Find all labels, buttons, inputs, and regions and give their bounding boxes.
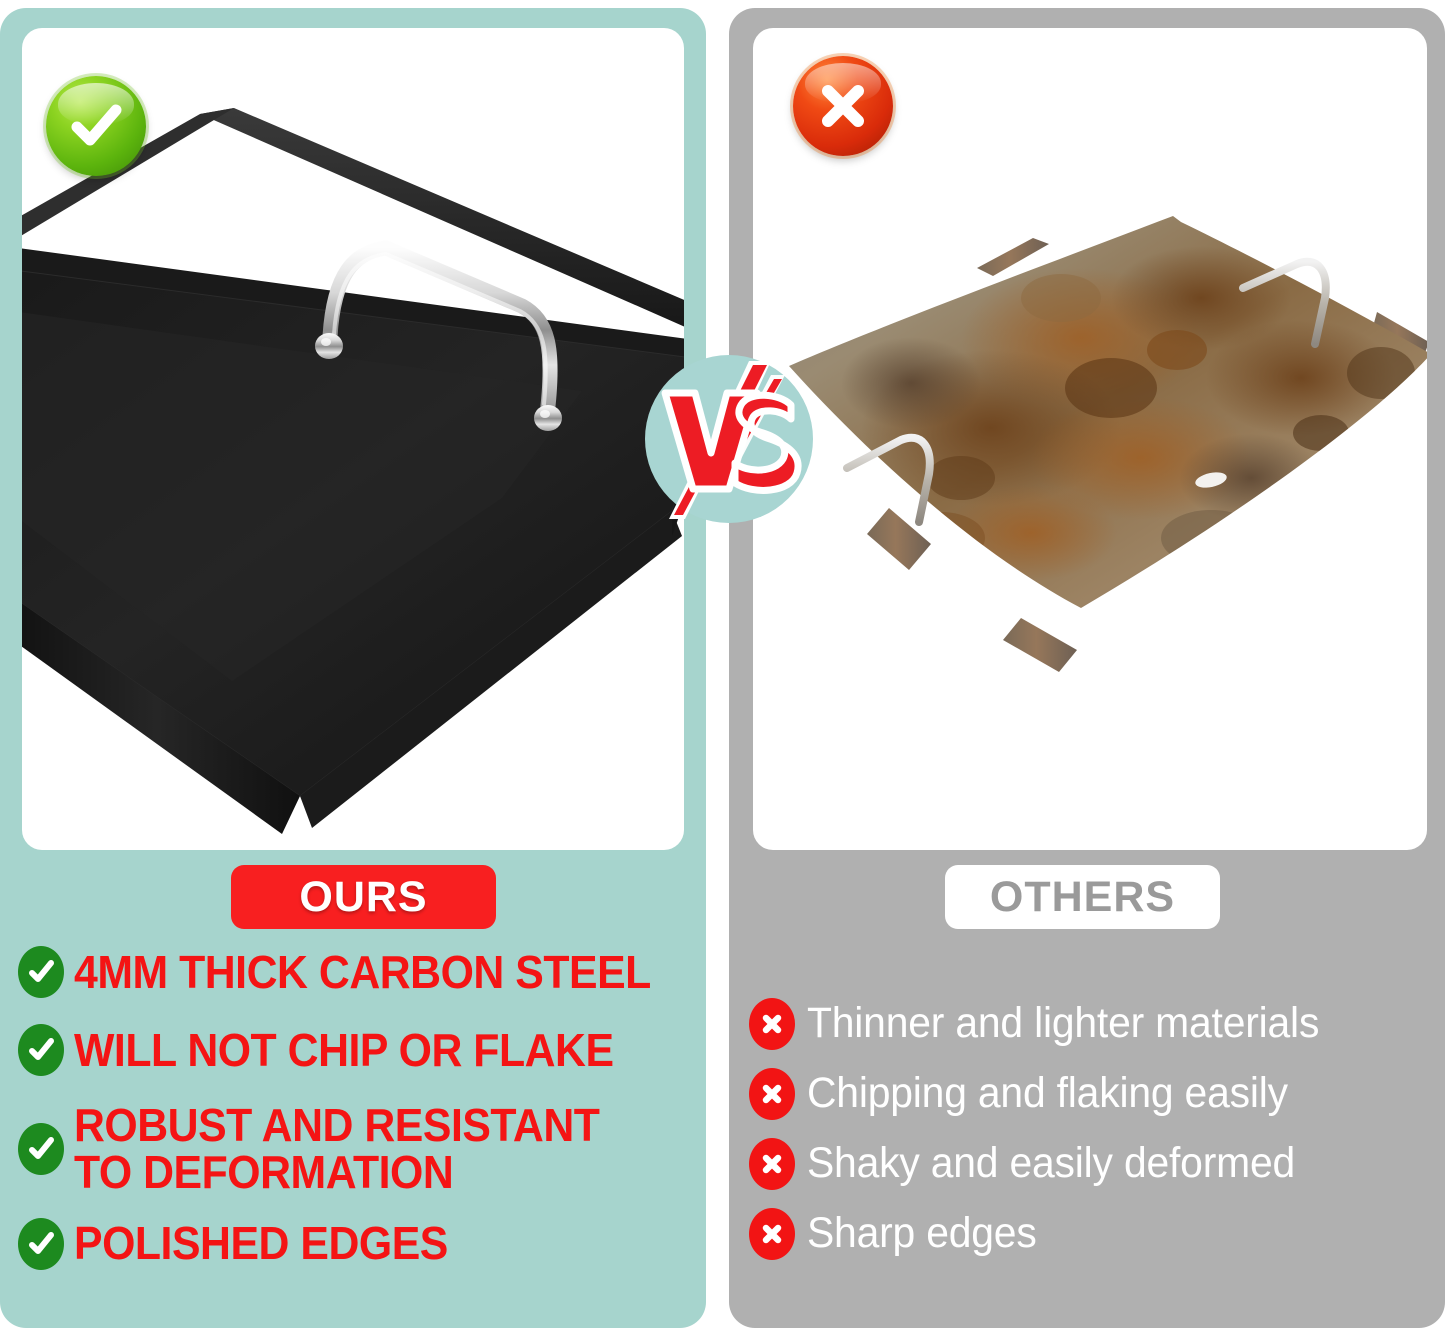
green-check-badge (46, 76, 146, 176)
list-item: POLISHED EDGES (18, 1218, 696, 1270)
ours-title-label: OURS (299, 873, 427, 922)
ours-feature-list: 4MM THICK CARBON STEEL WILL NOT CHIP OR … (18, 946, 696, 1296)
list-item: 4MM THICK CARBON STEEL (18, 946, 696, 998)
ours-feature-label: WILL NOT CHIP OR FLAKE (74, 1027, 614, 1074)
list-item: Thinner and lighter materials (749, 998, 1435, 1050)
others-feature-label: Shaky and easily deformed (807, 1141, 1295, 1186)
others-product-image (781, 178, 1427, 698)
ours-feature-label: 4MM THICK CARBON STEEL (74, 949, 651, 996)
ours-product-image (22, 106, 684, 850)
others-photo-card (753, 28, 1427, 850)
cross-icon (749, 1068, 795, 1120)
check-icon (18, 1218, 64, 1270)
close-icon (814, 77, 872, 135)
vs-label-icon (645, 355, 813, 523)
comparison-infographic: OURS 4MM THICK CARBON STEEL WILL NOT CHI… (0, 0, 1445, 1337)
vs-badge (645, 355, 813, 523)
ours-panel: OURS 4MM THICK CARBON STEEL WILL NOT CHI… (0, 8, 706, 1328)
list-item: ROBUST AND RESISTANT TO DEFORMATION (18, 1102, 696, 1196)
list-item: Sharp edges (749, 1208, 1435, 1260)
check-icon (18, 1123, 64, 1175)
ours-photo-card (22, 28, 684, 850)
others-feature-list: Thinner and lighter materials Chipping a… (749, 998, 1435, 1278)
check-icon (65, 95, 127, 157)
cross-icon (749, 1138, 795, 1190)
red-cross-badge (793, 56, 893, 156)
others-feature-label: Chipping and flaking easily (807, 1071, 1288, 1116)
cross-icon (749, 998, 795, 1050)
cross-icon (749, 1208, 795, 1260)
others-panel: OTHERS Thinner and lighter materials Chi… (729, 8, 1445, 1328)
others-title-label: OTHERS (990, 873, 1175, 922)
others-feature-label: Thinner and lighter materials (807, 1001, 1319, 1046)
ours-feature-label: POLISHED EDGES (74, 1220, 448, 1267)
ours-feature-label: ROBUST AND RESISTANT TO DEFORMATION (74, 1102, 599, 1196)
others-feature-label: Sharp edges (807, 1211, 1037, 1256)
others-title-pill: OTHERS (945, 865, 1220, 929)
check-icon (18, 946, 64, 998)
list-item: WILL NOT CHIP OR FLAKE (18, 1024, 696, 1076)
list-item: Chipping and flaking easily (749, 1068, 1435, 1120)
ours-title-pill: OURS (231, 865, 496, 929)
check-icon (18, 1024, 64, 1076)
list-item: Shaky and easily deformed (749, 1138, 1435, 1190)
